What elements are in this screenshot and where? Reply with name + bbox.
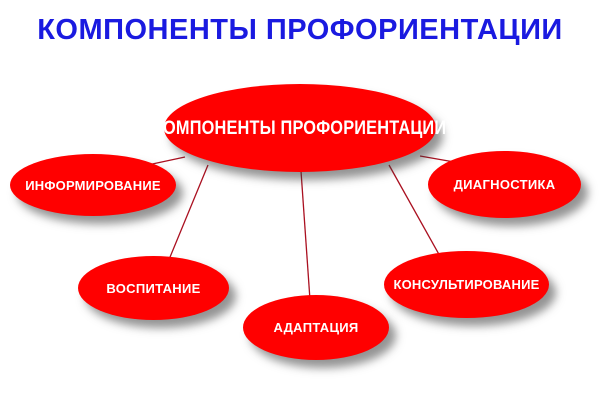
node-counseling-label: КОНСУЛЬТИРОВАНИЕ (393, 278, 539, 291)
node-center[interactable]: КОМПОНЕНТЫ ПРОФОРИЕНТАЦИИ (164, 84, 436, 172)
node-upbringing[interactable]: ВОСПИТАНИЕ (78, 256, 229, 320)
node-upbringing-label: ВОСПИТАНИЕ (106, 282, 200, 295)
connector-center-to-adaptation (301, 171, 310, 300)
node-center-label: КОМПОНЕНТЫ ПРОФОРИЕНТАЦИИ (153, 119, 446, 138)
node-diagnostics[interactable]: ДИАГНОСТИКА (428, 151, 581, 218)
node-counseling[interactable]: КОНСУЛЬТИРОВАНИЕ (384, 251, 549, 318)
node-adaptation-label: АДАПТАЦИЯ (273, 321, 358, 334)
node-adaptation[interactable]: АДАПТАЦИЯ (243, 295, 389, 360)
node-informing-label: ИНФОРМИРОВАНИЕ (25, 179, 161, 192)
node-diagnostics-label: ДИАГНОСТИКА (454, 178, 556, 191)
node-informing[interactable]: ИНФОРМИРОВАНИЕ (10, 154, 176, 216)
diagram-canvas: КОМПОНЕНТЫ ПРОФОРИЕНТАЦИИ КОМПОНЕНТЫ ПРО… (0, 0, 600, 400)
